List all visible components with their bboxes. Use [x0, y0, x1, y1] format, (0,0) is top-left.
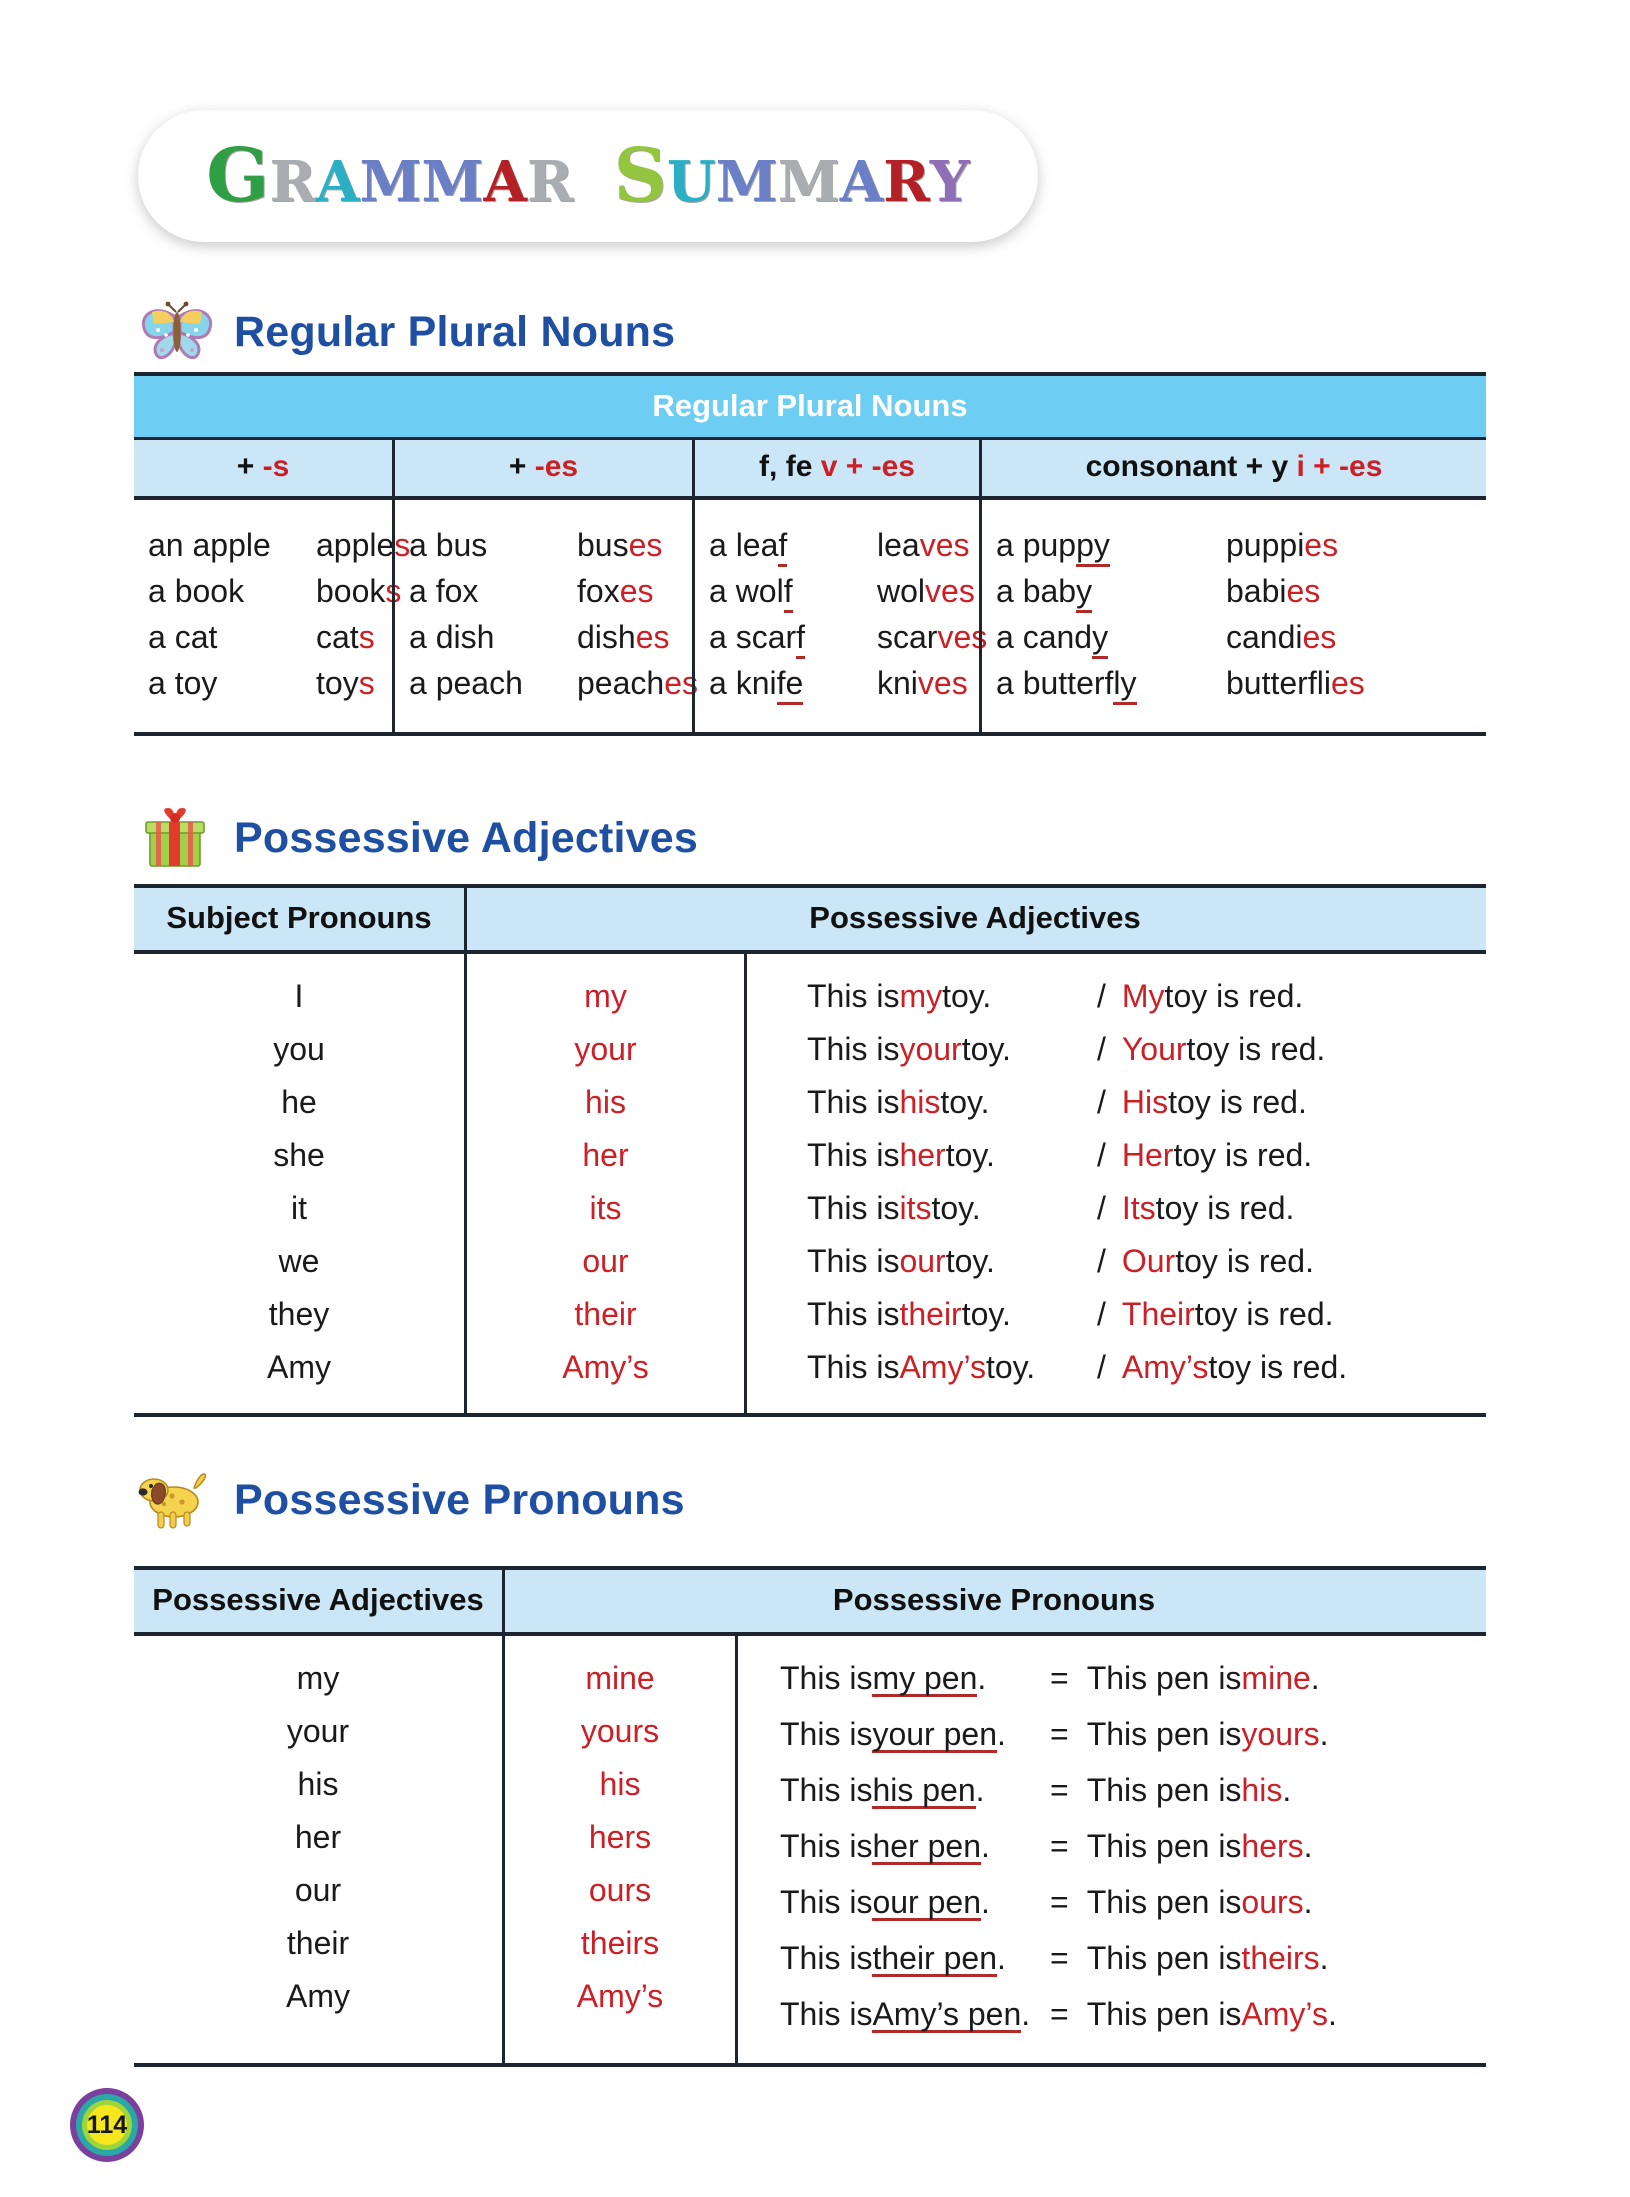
example-sentence-1: This is her pen. [780, 1830, 1050, 1865]
possessive-adjective-text: Amy [286, 1980, 350, 2012]
example-sentence-1: This is your pen. [780, 1718, 1050, 1753]
table-header-row: Possessive Adjectives Possessive Pronoun… [134, 1566, 1486, 1636]
noun-pair-row: a butterflybutterflies [996, 660, 1486, 706]
sentence-separator: / [1097, 1245, 1106, 1277]
plural-noun: dishes [577, 614, 670, 660]
page-number: 114 [87, 2105, 127, 2145]
sentence-highlight: Amy’s [899, 1351, 986, 1383]
possessive-adjective: Amy [134, 1980, 502, 2012]
singular-ending: y [1092, 619, 1108, 659]
plural-noun: buses [577, 522, 662, 568]
plural-noun: cats [316, 614, 375, 660]
example-sentence-1: This is his toy. [807, 1086, 1097, 1118]
plural-suffix: s [359, 619, 375, 655]
sentence-suffix: . [997, 1942, 1006, 1974]
table-rule-header-row: + -s+ -esf, fe v + -esconsonant + y i + … [134, 437, 1486, 500]
sentence-prefix: This is [807, 1192, 899, 1224]
sentence-suffix: . [977, 1662, 986, 1694]
sentence-highlight: Our [1122, 1245, 1175, 1277]
sentence-highlight: mine [1241, 1662, 1310, 1694]
possessive-pronoun-text: Amy’s [577, 1980, 664, 2012]
possessive-adjective: my [134, 1662, 502, 1694]
sentence-prefix: This is [807, 1086, 899, 1118]
sentence-separator: = [1050, 1774, 1069, 1806]
plural-stem: babi [1226, 573, 1287, 609]
sentence-prefix: This is [807, 1033, 899, 1065]
noun-group-column: a busbusesa foxfoxesa dishdishesa peachp… [392, 500, 692, 732]
possessive-adjective-text: your [574, 1033, 636, 1065]
singular-noun: a fox [409, 568, 577, 614]
possessive-adjective-text: my [584, 980, 627, 1012]
title-word: GRAMMAR [206, 139, 573, 213]
example-sentence-row: This is his pen.=This pen is his. [738, 1774, 1483, 1809]
sentence-prefix: This pen is [1087, 1886, 1242, 1918]
table-body: myyourhisherourtheirAmy mineyourshishers… [134, 1636, 1486, 2067]
sentence-suffix: toy. [962, 1298, 1011, 1330]
singular-noun: a candy [996, 614, 1226, 660]
plural-suffix: ves [918, 665, 968, 701]
singular-stem: an apple [148, 527, 271, 563]
example-sentence-1: This is their toy. [807, 1298, 1097, 1330]
example-sentence-row: This is its toy./Its toy is red. [747, 1192, 1483, 1224]
plural-stem: apple [316, 527, 394, 563]
example-sentence-2: My toy is red. [1122, 980, 1303, 1012]
possessive-adjective-text: her [582, 1139, 628, 1171]
section-header-possessive-pronouns: Possessive Pronouns [138, 1468, 685, 1532]
sentence-highlight: our [899, 1245, 945, 1277]
sentence-highlight: Amy’s [1241, 1998, 1328, 2030]
possessive-adjective-text: their [287, 1927, 349, 1959]
possessive-adjective: our [134, 1874, 502, 1906]
column-header: Subject Pronouns [134, 888, 464, 950]
sentence-separator: / [1097, 1086, 1106, 1118]
rule-cell: + -es [392, 440, 692, 496]
sentence-highlight: his [1241, 1774, 1282, 1806]
example-sentence-2: Their toy is red. [1122, 1298, 1334, 1330]
sentence-suffix: toy is red. [1208, 1351, 1347, 1383]
sentence-suffix: . [1320, 1942, 1329, 1974]
sentence-highlight: ours [1241, 1886, 1303, 1918]
sentence-prefix: This is [780, 1942, 872, 1974]
possessive-adjectives-table: Subject Pronouns Possessive Adjectives I… [134, 884, 1486, 1417]
possessive-adjective: his [467, 1086, 744, 1118]
sentence-prefix: This is [807, 980, 899, 1012]
example-sentence-column: This is my toy./My toy is red.This is yo… [744, 954, 1483, 1413]
singular-stem: a book [148, 573, 244, 609]
noun-pair-row: a catcats [148, 614, 392, 660]
sentence-suffix: toy is red. [1175, 1245, 1314, 1277]
plural-noun: babies [1226, 568, 1320, 614]
title-letter: Y [930, 154, 970, 210]
sentence-suffix: . [1304, 1886, 1313, 1918]
sentence-prefix: This is [780, 1886, 872, 1918]
sentence-prefix: This is [780, 1998, 872, 2030]
section-header-possessive-adjectives: Possessive Adjectives [138, 806, 698, 870]
example-sentence-2: This pen is Amy’s. [1087, 1998, 1337, 2030]
example-sentence-1: This is your toy. [807, 1033, 1097, 1065]
page-badge-ring: 114 [82, 2100, 132, 2150]
example-sentence-1: This is his pen. [780, 1774, 1050, 1809]
sentence-highlight: yours [1241, 1718, 1319, 1750]
example-sentence-row: This is Amy’s pen.=This pen is Amy’s. [738, 1998, 1483, 2033]
sentence-highlight: My [1122, 980, 1165, 1012]
sentence-prefix: This is [780, 1830, 872, 1862]
sentence-separator: = [1050, 1886, 1069, 1918]
possessive-pronoun-text: theirs [581, 1927, 659, 1959]
noun-pair-row: a dishdishes [409, 614, 692, 660]
rule-suffix: -es [535, 450, 578, 483]
example-sentence-2: This pen is his. [1087, 1774, 1292, 1806]
sentence-separator: / [1097, 1139, 1106, 1171]
noun-pair-row: a toytoys [148, 660, 392, 706]
sentence-highlight: my [899, 980, 942, 1012]
subject-pronoun-column: IyouhesheitwetheyAmy [134, 954, 464, 1413]
section-title: Possessive Pronouns [234, 1476, 685, 1525]
noun-pair-row: a scarfscarves [709, 614, 979, 660]
singular-stem: a bus [409, 527, 487, 563]
plural-suffix: es [629, 527, 663, 563]
possessive-adjective-column: myyourhisheritsourtheirAmy’s [464, 954, 744, 1413]
possessive-pronoun-column: mineyourshishersourstheirsAmy’s [502, 1636, 735, 2063]
singular-noun: a butterfly [996, 660, 1226, 706]
example-sentence-1: This is my toy. [807, 980, 1097, 1012]
rule-suffix: -s [263, 450, 290, 483]
example-sentence-row: This is our toy./Our toy is red. [747, 1245, 1483, 1277]
sentence-highlight: his [899, 1086, 940, 1118]
example-sentence-2: Its toy is red. [1122, 1192, 1295, 1224]
example-sentence-row: This is her toy./Her toy is red. [747, 1139, 1483, 1171]
plural-noun: wolves [877, 568, 975, 614]
possessive-adjective-text: its [590, 1192, 622, 1224]
example-sentence-row: This is your toy./Your toy is red. [747, 1033, 1483, 1065]
possessive-pronoun-text: ours [589, 1874, 651, 1906]
possessive-pronoun: hers [505, 1821, 735, 1853]
sentence-prefix: This is [807, 1245, 899, 1277]
page-title: GRAMMARSUMMARY [206, 139, 969, 213]
title-letter: M [716, 154, 778, 210]
subject-pronoun-text: you [273, 1033, 325, 1065]
page-title-banner: GRAMMARSUMMARY [138, 110, 1038, 242]
possessive-adjective: your [467, 1033, 744, 1065]
sentence-underlined: his pen [872, 1774, 975, 1809]
singular-stem: a pup [996, 527, 1076, 563]
sentence-highlight: Their [1122, 1298, 1195, 1330]
possessive-adjective-text: Amy’s [562, 1351, 649, 1383]
singular-stem: a cat [148, 619, 217, 655]
plural-stem: butterfli [1226, 665, 1331, 701]
gift-box-icon [138, 806, 216, 870]
sentence-separator: / [1097, 980, 1106, 1012]
butterfly-icon [138, 300, 216, 364]
sentence-suffix: . [1304, 1830, 1313, 1862]
example-sentence-1: This is our pen. [780, 1886, 1050, 1921]
sentence-highlight: Its [1122, 1192, 1156, 1224]
sentence-prefix: This pen is [1087, 1830, 1242, 1862]
example-sentence-1: This is her toy. [807, 1139, 1097, 1171]
possessive-adjective: Amy’s [467, 1351, 744, 1383]
sentence-highlight: hers [1241, 1830, 1303, 1862]
sentence-suffix: toy is red. [1187, 1033, 1326, 1065]
noun-pair-row: a peachpeaches [409, 660, 692, 706]
noun-pair-row: a candycandies [996, 614, 1486, 660]
sentence-suffix: toy. [931, 1192, 980, 1224]
possessive-adjective: their [134, 1927, 502, 1959]
sentence-underlined: your pen [872, 1718, 997, 1753]
title-letter: A [316, 154, 359, 210]
section-title: Possessive Adjectives [234, 814, 698, 863]
subject-pronoun: it [134, 1192, 464, 1224]
possessive-pronoun-text: hers [589, 1821, 651, 1853]
singular-ending: y [1076, 573, 1092, 613]
singular-noun: a cat [148, 614, 316, 660]
singular-stem: a wol [709, 573, 784, 609]
possessive-pronoun: his [505, 1768, 735, 1800]
column-header: Possessive Pronouns [502, 1570, 1483, 1632]
sentence-underlined: her pen [872, 1830, 981, 1865]
title-letter: M [421, 154, 483, 210]
example-sentence-1: This is their pen. [780, 1942, 1050, 1977]
page-badge-ring: 114 [76, 2094, 138, 2156]
column-header: Possessive Adjectives [464, 888, 1483, 950]
sentence-highlight: Her [1122, 1139, 1174, 1171]
subject-pronoun: you [134, 1033, 464, 1065]
possessive-adjective-text: his [298, 1768, 339, 1800]
rule-cell: f, fe v + -es [692, 440, 979, 496]
plural-stem: toy [316, 665, 359, 701]
example-sentence-2: His toy is red. [1122, 1086, 1307, 1118]
example-sentence-1: This is its toy. [807, 1192, 1097, 1224]
subject-pronoun: she [134, 1139, 464, 1171]
possessive-pronoun: Amy’s [505, 1980, 735, 2012]
possessive-adjective: her [134, 1821, 502, 1853]
singular-stem: a fox [409, 573, 478, 609]
example-sentence-row: This is your pen.=This pen is yours. [738, 1718, 1483, 1753]
section-header-regular-plural-nouns: Regular Plural Nouns [138, 300, 675, 364]
sentence-suffix: . [976, 1774, 985, 1806]
singular-stem: a toy [148, 665, 217, 701]
possessive-adjective: your [134, 1715, 502, 1747]
sentence-highlight: her [899, 1139, 945, 1171]
subject-pronoun: Amy [134, 1351, 464, 1383]
plural-suffix: s [359, 665, 375, 701]
singular-noun: a leaf [709, 522, 877, 568]
example-sentence-row: This is her pen.=This pen is hers. [738, 1830, 1483, 1865]
subject-pronoun: we [134, 1245, 464, 1277]
plural-suffix: ves [925, 573, 975, 609]
plural-suffix: es [620, 573, 654, 609]
singular-noun: a puppy [996, 522, 1226, 568]
sentence-prefix: This pen is [1087, 1774, 1242, 1806]
possessive-adjective: its [467, 1192, 744, 1224]
possessive-adjective-column: myyourhisherourtheirAmy [134, 1636, 502, 2063]
plural-noun: books [316, 568, 401, 614]
sentence-separator: = [1050, 1942, 1069, 1974]
subject-pronoun-text: they [269, 1298, 329, 1330]
possessive-pronoun: yours [505, 1715, 735, 1747]
example-sentence-row: This is my pen.=This pen is mine. [738, 1662, 1483, 1697]
sentence-prefix: This is [807, 1139, 899, 1171]
sentence-suffix: . [981, 1886, 990, 1918]
column-header: Possessive Adjectives [134, 1570, 502, 1632]
sentence-prefix: This pen is [1087, 1998, 1242, 2030]
sentence-separator: = [1050, 1830, 1069, 1862]
sentence-suffix: toy. [962, 1033, 1011, 1065]
possessive-adjective-text: our [295, 1874, 341, 1906]
possessive-adjective: my [467, 980, 744, 1012]
subject-pronoun-text: Amy [267, 1351, 331, 1383]
subject-pronoun: he [134, 1086, 464, 1118]
singular-noun: a scarf [709, 614, 877, 660]
noun-pair-row: a busbuses [409, 522, 692, 568]
sentence-prefix: This pen is [1087, 1718, 1242, 1750]
title-letter: U [667, 154, 716, 210]
singular-ending: py [1076, 527, 1110, 567]
subject-pronoun-text: she [273, 1139, 325, 1171]
subject-pronoun-text: we [279, 1245, 320, 1277]
sentence-underlined: Amy’s pen [872, 1998, 1021, 2033]
noun-pair-row: an appleapples [148, 522, 392, 568]
plural-noun: scarves [877, 614, 987, 660]
example-sentence-1: This is Amy’s pen. [780, 1998, 1050, 2033]
singular-noun: a knife [709, 660, 877, 706]
rule-suffix: i + -es [1297, 450, 1383, 483]
possessive-adjective-text: her [295, 1821, 341, 1853]
possessive-pronoun: ours [505, 1874, 735, 1906]
sentence-highlight: their [899, 1298, 961, 1330]
singular-noun: a baby [996, 568, 1226, 614]
plural-suffix: es [1331, 665, 1365, 701]
sentence-highlight: your [899, 1033, 961, 1065]
sentence-separator: / [1097, 1033, 1106, 1065]
singular-stem: a kni [709, 665, 777, 701]
singular-ending: f [796, 619, 805, 659]
example-sentence-2: Amy’s toy is red. [1122, 1351, 1347, 1383]
plural-stem: book [316, 573, 385, 609]
sentence-suffix: toy. [986, 1351, 1035, 1383]
example-sentence-column: This is my pen.=This pen is mine.This is… [735, 1636, 1483, 2063]
sentence-suffix: toy is red. [1168, 1086, 1307, 1118]
sentence-highlight: Amy’s [1122, 1351, 1209, 1383]
singular-noun: a wolf [709, 568, 877, 614]
sentence-suffix: toy. [946, 1139, 995, 1171]
possessive-pronouns-table: Possessive Adjectives Possessive Pronoun… [134, 1566, 1486, 2067]
rule-text: + [509, 450, 535, 483]
sentence-suffix: toy is red. [1195, 1298, 1334, 1330]
title-letter: M [778, 154, 840, 210]
noun-group-column: a leafleavesa wolfwolvesa scarfscarvesa … [692, 500, 979, 732]
singular-stem: a peach [409, 665, 523, 701]
example-sentence-1: This is our toy. [807, 1245, 1097, 1277]
singular-stem: a bab [996, 573, 1076, 609]
plural-stem: dish [577, 619, 636, 655]
singular-noun: a peach [409, 660, 577, 706]
singular-ending: f [778, 527, 787, 567]
singular-ending: ly [1113, 665, 1136, 705]
singular-noun: an apple [148, 522, 316, 568]
singular-stem: a cand [996, 619, 1092, 655]
singular-ending: fe [777, 665, 804, 705]
example-sentence-row: This is their toy./Their toy is red. [747, 1298, 1483, 1330]
table-body: an appleapplesa bookbooksa catcatsa toyt… [134, 500, 1486, 736]
plural-stem: fox [577, 573, 620, 609]
sentence-suffix: toy. [946, 1245, 995, 1277]
sentence-suffix: . [1282, 1774, 1291, 1806]
plural-stem: puppi [1226, 527, 1304, 563]
title-letter: R [883, 154, 930, 210]
singular-stem: a lea [709, 527, 778, 563]
singular-stem: a scar [709, 619, 796, 655]
possessive-adjective: our [467, 1245, 744, 1277]
plural-stem: candi [1226, 619, 1303, 655]
sentence-separator: = [1050, 1718, 1069, 1750]
example-sentence-row: This is our pen.=This pen is ours. [738, 1886, 1483, 1921]
example-sentence-2: This pen is theirs. [1087, 1942, 1329, 1974]
plural-noun: leaves [877, 522, 970, 568]
sentence-separator: / [1097, 1298, 1106, 1330]
possessive-adjective: their [467, 1298, 744, 1330]
noun-pair-row: a puppypuppies [996, 522, 1486, 568]
subject-pronoun: I [134, 980, 464, 1012]
title-letter: S [613, 139, 666, 213]
title-letter: R [269, 154, 316, 210]
plural-noun: knives [877, 660, 968, 706]
possessive-adjective-text: his [585, 1086, 626, 1118]
sentence-underlined: their pen [872, 1942, 997, 1977]
possessive-pronoun: mine [505, 1662, 735, 1694]
title-letter: A [483, 154, 526, 210]
plural-noun: butterflies [1226, 660, 1365, 706]
sentence-separator: / [1097, 1192, 1106, 1224]
example-sentence-2: This pen is hers. [1087, 1830, 1313, 1862]
example-sentence-row: This is my toy./My toy is red. [747, 980, 1483, 1012]
rule-text: f, fe [759, 450, 821, 483]
singular-stem: a butterf [996, 665, 1113, 701]
example-sentence-1: This is Amy’s toy. [807, 1351, 1097, 1383]
section-title: Regular Plural Nouns [234, 308, 675, 357]
plural-suffix: es [636, 619, 670, 655]
singular-noun: a dish [409, 614, 577, 660]
sentence-suffix: . [981, 1830, 990, 1862]
plural-suffix: es [1303, 619, 1337, 655]
sentence-suffix: . [1320, 1718, 1329, 1750]
plural-suffix: es [1287, 573, 1321, 609]
rule-suffix: v + -es [821, 450, 915, 483]
singular-ending: f [784, 573, 793, 613]
sentence-underlined: my pen [872, 1662, 977, 1697]
singular-noun: a toy [148, 660, 316, 706]
example-sentence-row: This is their pen.=This pen is theirs. [738, 1942, 1483, 1977]
sentence-suffix: . [997, 1718, 1006, 1750]
singular-noun: a book [148, 568, 316, 614]
sentence-separator: = [1050, 1998, 1069, 2030]
rule-cell: consonant + y i + -es [979, 440, 1486, 496]
possessive-pronoun-text: mine [585, 1662, 654, 1694]
singular-noun: a bus [409, 522, 577, 568]
plural-stem: cat [316, 619, 359, 655]
sentence-suffix: toy is red. [1156, 1192, 1295, 1224]
example-sentence-row: This is his toy./His toy is red. [747, 1086, 1483, 1118]
sentence-prefix: This is [780, 1662, 872, 1694]
plural-stem: bus [577, 527, 629, 563]
subject-pronoun-text: I [295, 980, 304, 1012]
example-sentence-row: This is Amy’s toy./Amy’s toy is red. [747, 1351, 1483, 1383]
plural-noun: candies [1226, 614, 1336, 660]
possessive-adjective-text: your [287, 1715, 349, 1747]
sentence-suffix: . [1311, 1662, 1320, 1694]
possessive-pronoun-text: his [600, 1768, 641, 1800]
sentence-prefix: This pen is [1087, 1662, 1242, 1694]
example-sentence-2: Her toy is red. [1122, 1139, 1312, 1171]
